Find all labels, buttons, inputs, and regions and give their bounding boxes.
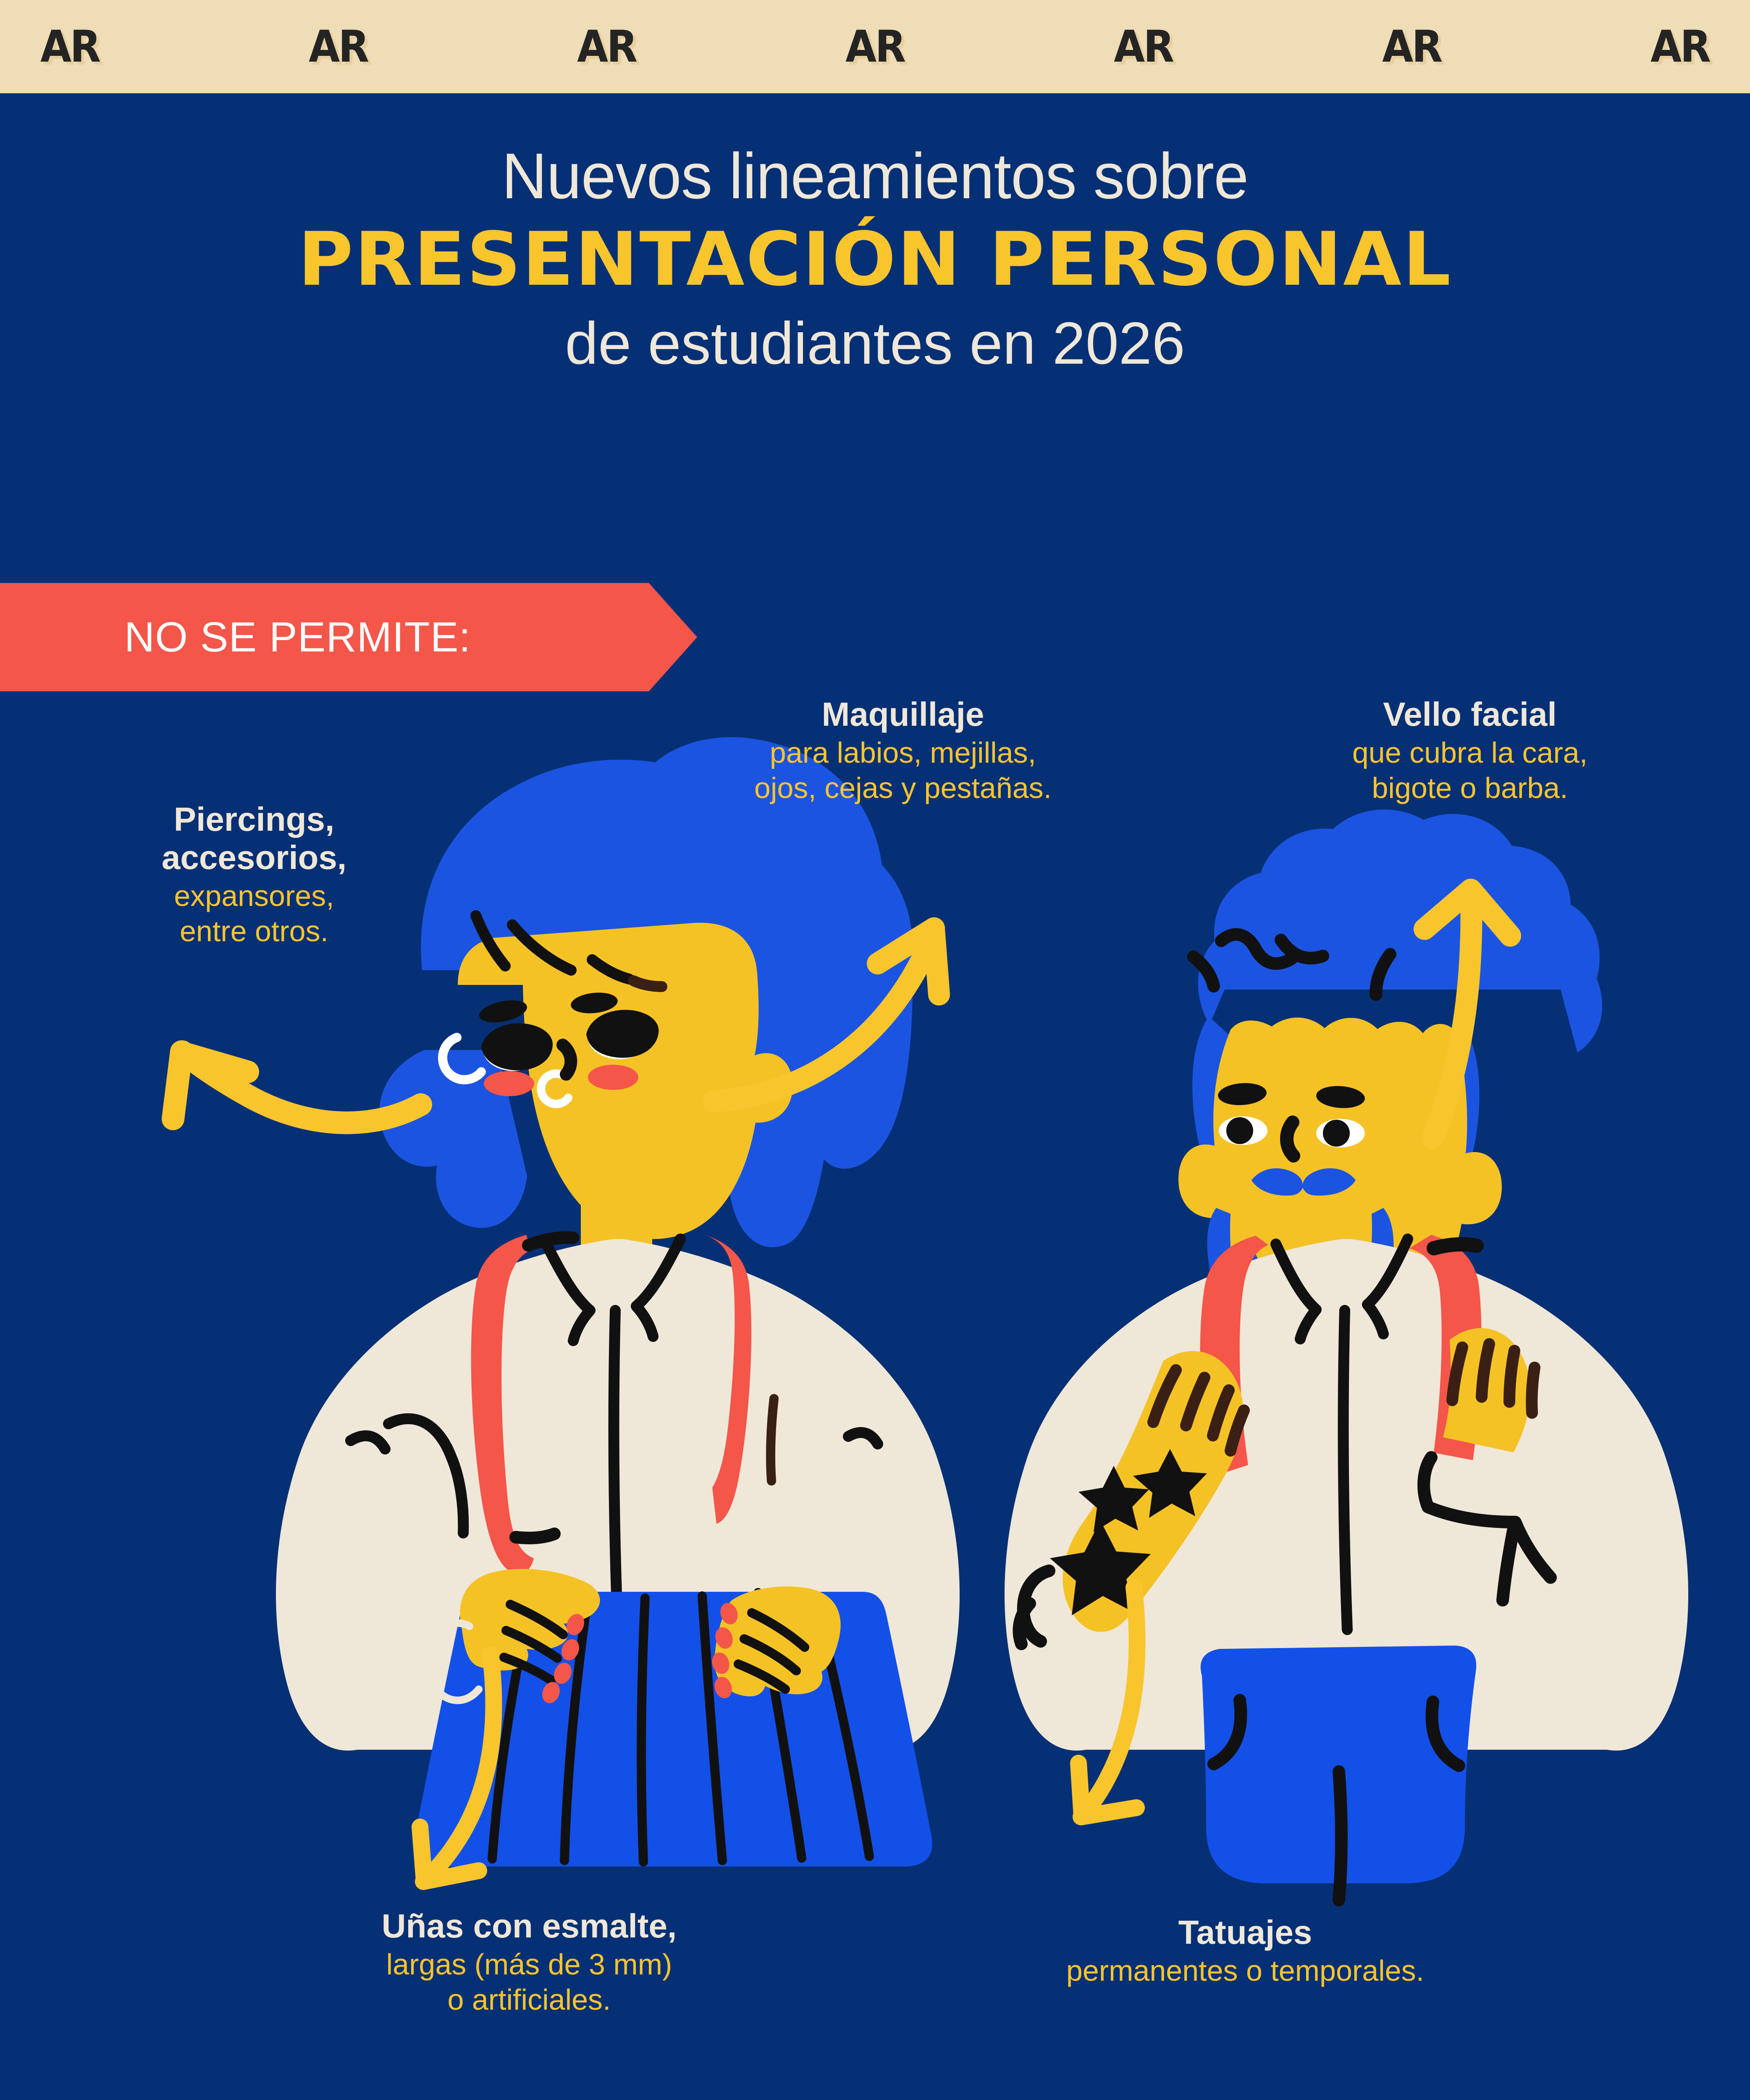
callout-unas: Uñas con esmalte, largas (más de 3 mm) o…	[252, 1907, 806, 2017]
ar-logo-icon: AR	[1382, 25, 1441, 68]
ar-logo-icon: AR	[1650, 25, 1709, 68]
ar-logo-icon: AR	[1114, 25, 1173, 68]
arrow-to-tatuajes	[1078, 1588, 1137, 1817]
callout-heading: Uñas con esmalte,	[252, 1907, 806, 1945]
ar-logo-icon: AR	[309, 25, 367, 68]
callout-maquillaje: Maquillaje para labios, mejillas, ojos, …	[655, 695, 1151, 806]
callout-heading: Tatuajes	[966, 1913, 1524, 1951]
callout-subtext: largas (más de 3 mm) o artificiales.	[252, 1947, 806, 2017]
arrow-to-piercings	[173, 1052, 421, 1123]
callout-subtext: expansores, entre otros.	[82, 878, 426, 949]
top-brand-banner: AR AR AR AR AR AR AR	[0, 0, 1750, 93]
title-line-3: de estudiantes en 2026	[0, 308, 1750, 379]
ar-logo-icon: AR	[577, 25, 636, 68]
callout-subtext: que cubra la cara, bigote o barba.	[1254, 735, 1686, 806]
callout-heading: Maquillaje	[655, 695, 1151, 733]
callout-heading: Piercings, accesorios,	[82, 800, 426, 877]
callout-vello-facial: Vello facial que cubra la cara, bigote o…	[1254, 695, 1686, 806]
infographic-page: AR AR AR AR AR AR AR Nuevos lineamientos…	[0, 0, 1750, 2100]
callout-piercings: Piercings, accesorios, expansores, entre…	[82, 800, 426, 949]
ribbon-label: NO SE PERMITE:	[0, 613, 471, 661]
ar-logo-icon: AR	[845, 25, 904, 68]
title-line-1: Nuevos lineamientos sobre	[26, 139, 1724, 214]
callout-tatuajes: Tatuajes permanentes o temporales.	[966, 1913, 1524, 1988]
male-student-illustration	[1005, 809, 1688, 1900]
arrow-to-maquillaje	[714, 928, 939, 1101]
title-line-2: PRESENTACIÓN PERSONAL	[0, 214, 1750, 305]
callout-heading: Vello facial	[1254, 695, 1686, 733]
callout-subtext: permanentes o temporales.	[966, 1953, 1524, 1988]
ar-logo-icon: AR	[40, 25, 99, 68]
arrow-to-unas	[420, 1655, 494, 1882]
arrow-to-vello-facial	[1425, 890, 1510, 1138]
page-title: Nuevos lineamientos sobre PRESENTACIÓN P…	[0, 139, 1750, 379]
callout-subtext: para labios, mejillas, ojos, cejas y pes…	[655, 735, 1151, 806]
no-se-permite-ribbon: NO SE PERMITE:	[0, 583, 697, 691]
